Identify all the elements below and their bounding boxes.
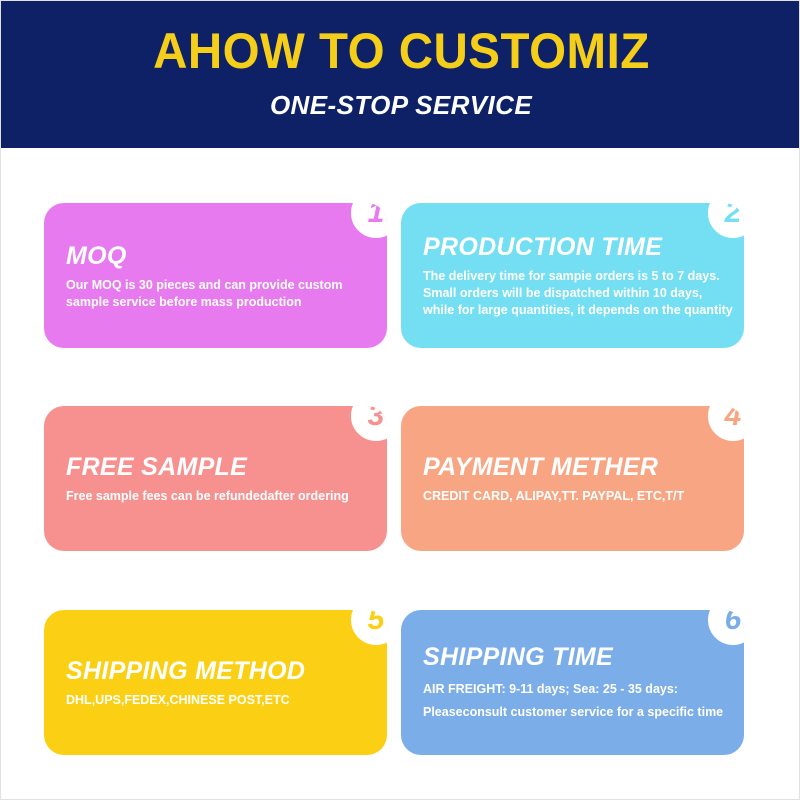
card-body: DHL,UPS,FEDEX,CHINESE POST,ETC (66, 692, 365, 709)
card-title: FREE SAMPLE (66, 452, 365, 482)
card-number-badge: 4 (706, 406, 744, 443)
card-body: Our MOQ is 30 pieces and can provide cus… (66, 277, 365, 311)
card-slot: FREE SAMPLEFree sample fees can be refun… (44, 406, 387, 551)
info-card: PRODUCTION TIMEThe delivery time for sam… (401, 203, 744, 348)
card-body-line: Our MOQ is 30 pieces and can provide cus… (66, 277, 365, 294)
infographic-page: AHOW TO CUSTOMIZ ONE-STOP SERVICE MOQOur… (0, 0, 800, 800)
info-card: PAYMENT METHERCREDIT CARD, ALIPAY,TT. PA… (401, 406, 744, 551)
card-slot: PAYMENT METHERCREDIT CARD, ALIPAY,TT. PA… (401, 406, 744, 551)
card-body-line: CREDIT CARD, ALIPAY,TT. PAYPAL, ETC,T/T (423, 488, 722, 505)
card-body: CREDIT CARD, ALIPAY,TT. PAYPAL, ETC,T/T (423, 488, 722, 505)
card-body: Free sample fees can be refundedafter or… (66, 488, 365, 505)
card-title: SHIPPING TIME (423, 642, 722, 672)
card-number-badge: 3 (349, 406, 387, 443)
card-body-line: Free sample fees can be refundedafter or… (66, 488, 365, 505)
card-body-line: DHL,UPS,FEDEX,CHINESE POST,ETC (66, 692, 365, 709)
card-slot: MOQOur MOQ is 30 pieces and can provide … (44, 203, 387, 348)
card-body-line: sample service before mass production (66, 294, 365, 311)
card-body: AIR FREIGHT: 9-11 days; Sea: 25 - 35 day… (423, 678, 722, 724)
card-body-line: Small orders will be dispatched within 1… (423, 285, 722, 302)
card-title: PRODUCTION TIME (423, 232, 722, 262)
header-banner: AHOW TO CUSTOMIZ ONE-STOP SERVICE (1, 1, 800, 148)
card-slot: SHIPPING METHODDHL,UPS,FEDEX,CHINESE POS… (44, 610, 387, 755)
info-card: SHIPPING METHODDHL,UPS,FEDEX,CHINESE POS… (44, 610, 387, 755)
card-title: MOQ (66, 241, 365, 271)
card-title: PAYMENT METHER (423, 452, 722, 482)
card-number-badge: 5 (349, 610, 387, 647)
info-card: MOQOur MOQ is 30 pieces and can provide … (44, 203, 387, 348)
card-number-badge: 1 (349, 203, 387, 240)
card-body-line: AIR FREIGHT: 9-11 days; Sea: 25 - 35 day… (423, 678, 722, 701)
card-slot: PRODUCTION TIMEThe delivery time for sam… (401, 203, 744, 348)
card-title: SHIPPING METHOD (66, 656, 365, 686)
page-title: AHOW TO CUSTOMIZ (153, 24, 650, 78)
card-body: The delivery time for sampie orders is 5… (423, 268, 722, 319)
card-body-line: Pleaseconsult customer service for a spe… (423, 701, 722, 724)
cards-grid: MOQOur MOQ is 30 pieces and can provide … (1, 148, 800, 800)
card-slot: SHIPPING TIMEAIR FREIGHT: 9-11 days; Sea… (401, 610, 744, 755)
card-body-line: The delivery time for sampie orders is 5… (423, 268, 722, 285)
info-card: FREE SAMPLEFree sample fees can be refun… (44, 406, 387, 551)
card-body-line: while for large quantities, it depends o… (423, 302, 722, 319)
page-subtitle: ONE-STOP SERVICE (270, 90, 532, 120)
info-card: SHIPPING TIMEAIR FREIGHT: 9-11 days; Sea… (401, 610, 744, 755)
